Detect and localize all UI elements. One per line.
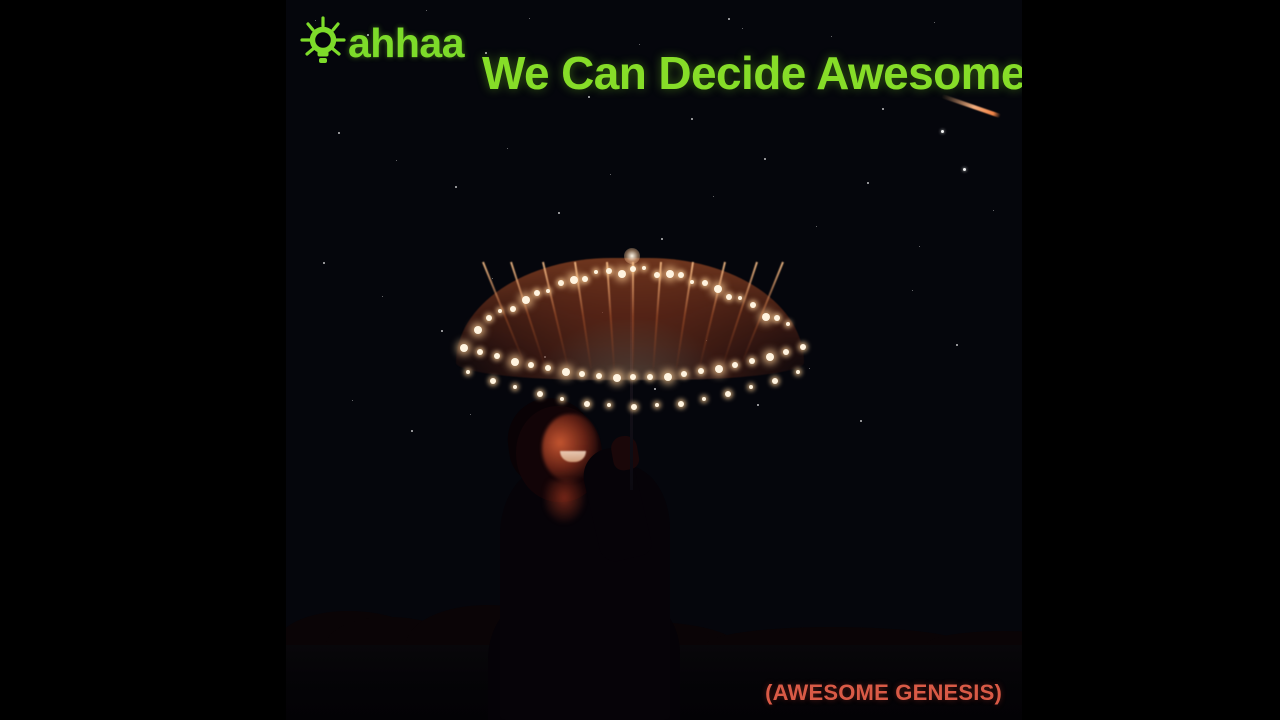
fairy-light — [631, 404, 637, 410]
brand-logo: ahhaa — [300, 16, 464, 70]
neck-highlight — [544, 480, 586, 524]
album-title: We Can Decide Awesome — [482, 46, 1022, 100]
star — [529, 18, 530, 19]
star — [934, 22, 935, 23]
fairy-light — [630, 266, 636, 272]
fairy-light — [522, 296, 530, 304]
umbrella-tip-glow — [624, 248, 640, 264]
fairy-light — [474, 326, 482, 334]
fairy-light — [466, 370, 470, 374]
fairy-light — [681, 371, 687, 377]
fairy-light — [800, 344, 806, 350]
fairy-light — [678, 401, 684, 407]
star — [610, 174, 611, 175]
star — [323, 262, 325, 264]
fairy-light — [690, 280, 694, 284]
woman-silhouette — [482, 390, 687, 720]
fairy-light — [498, 309, 502, 313]
fairy-light — [546, 289, 550, 293]
star — [963, 168, 966, 171]
star — [639, 44, 640, 45]
fairy-light — [528, 362, 534, 368]
star — [507, 148, 508, 149]
fairy-light — [786, 322, 790, 326]
star — [352, 400, 353, 401]
fairy-light — [511, 358, 519, 366]
fairy-light — [613, 374, 621, 382]
fairy-light — [584, 401, 590, 407]
star — [941, 130, 944, 133]
star — [411, 430, 413, 432]
fairy-light — [647, 374, 653, 380]
star — [382, 296, 383, 297]
fairy-light — [732, 362, 738, 368]
fairy-light — [594, 270, 598, 274]
star — [713, 196, 714, 197]
fairy-light — [596, 373, 602, 379]
fairy-light — [570, 276, 578, 284]
lit-umbrella — [456, 252, 826, 412]
fairy-light — [560, 397, 564, 401]
fairy-light — [772, 378, 778, 384]
fairy-light — [607, 403, 611, 407]
star — [831, 36, 832, 37]
fairy-light — [783, 349, 789, 355]
star — [993, 210, 994, 211]
star — [661, 238, 663, 240]
star — [455, 186, 457, 188]
fairy-light — [714, 285, 722, 293]
fairy-light — [490, 378, 496, 384]
star — [912, 290, 913, 291]
fairy-light — [725, 391, 731, 397]
fairy-light — [664, 373, 672, 381]
star — [742, 28, 743, 29]
album-subtitle: (AWESOME GENESIS) — [765, 680, 1002, 706]
star — [867, 182, 869, 184]
star — [338, 132, 340, 134]
star — [919, 246, 920, 247]
fairy-light — [477, 349, 483, 355]
star — [882, 108, 884, 110]
hill — [926, 631, 1022, 645]
fairy-light — [749, 358, 755, 364]
letterbox-left — [0, 0, 286, 720]
fairy-light — [513, 385, 517, 389]
star — [956, 344, 958, 346]
star — [470, 414, 471, 415]
fairy-light — [738, 296, 742, 300]
fairy-light — [654, 272, 660, 278]
star — [728, 18, 730, 20]
fairy-light — [579, 371, 585, 377]
album-artwork: ahhaa We Can Decide Awesome (AWESOME GEN… — [286, 0, 1022, 720]
star — [816, 226, 817, 227]
fairy-light — [749, 385, 753, 389]
video-frame: ahhaa We Can Decide Awesome (AWESOME GEN… — [0, 0, 1280, 720]
star — [441, 330, 443, 332]
fairy-light — [460, 344, 468, 352]
star — [764, 158, 766, 160]
letterbox-right — [1022, 0, 1280, 720]
fairy-light — [537, 391, 543, 397]
star — [691, 118, 693, 120]
fairy-light — [630, 374, 636, 380]
star — [860, 420, 862, 422]
fairy-light — [655, 403, 659, 407]
lightbulb-icon — [300, 16, 346, 70]
fairy-light — [666, 270, 674, 278]
brand-name: ahhaa — [348, 23, 464, 64]
fairy-light — [762, 313, 770, 321]
star — [396, 160, 397, 161]
fairy-light — [606, 268, 612, 274]
fairy-light — [796, 370, 800, 374]
star — [426, 10, 427, 11]
fairy-light — [702, 397, 706, 401]
umbrella-rib — [632, 262, 634, 370]
star — [558, 212, 560, 214]
